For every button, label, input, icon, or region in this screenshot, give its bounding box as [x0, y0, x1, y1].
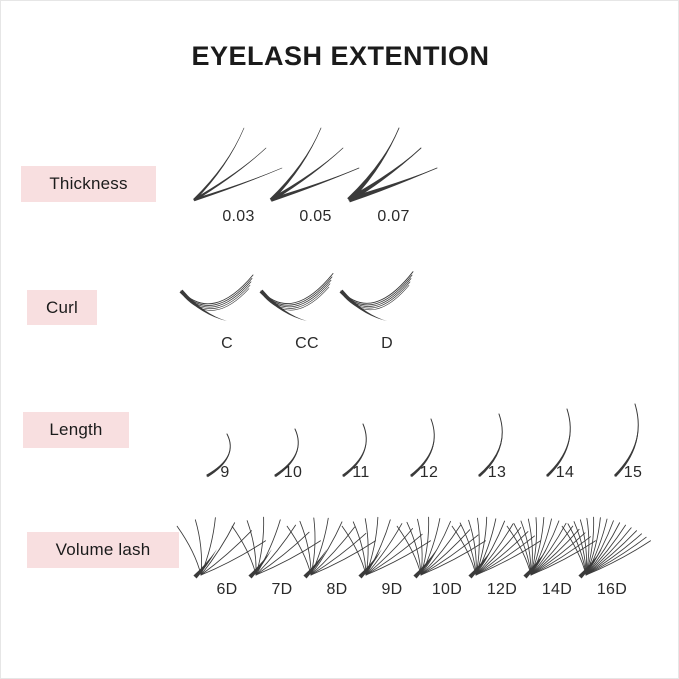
lash-fan-icon: [341, 126, 446, 206]
volume-fan-icon: [576, 501, 648, 579]
lash-specimen: 0.07: [341, 126, 446, 240]
specimen-caption: 12: [401, 464, 457, 482]
specimen-caption: D: [339, 335, 435, 353]
lash-specimen: 14: [537, 396, 593, 512]
lash-specimen: D: [339, 269, 435, 363]
page-title: EYELASH EXTENTION: [1, 41, 679, 72]
lash-specimen: 13: [469, 396, 525, 512]
lash-specimen: 16D: [576, 501, 648, 609]
lash-specimen: 12: [401, 396, 457, 512]
lash-specimen: 10: [265, 396, 321, 512]
lash-curl-icon: [339, 269, 435, 329]
specimen-caption: 14: [537, 464, 593, 482]
section-label-curl: Curl: [27, 290, 97, 325]
specimen-caption: 16D: [576, 581, 648, 599]
section-label-length: Length: [23, 412, 129, 448]
lash-specimen: 11: [333, 396, 389, 512]
lash-specimen: 16: [673, 396, 679, 512]
specimen-caption: 9: [197, 464, 253, 482]
specimen-caption: 10: [265, 464, 321, 482]
specimen-caption: 15: [605, 464, 661, 482]
eyelash-extension-chart: EYELASH EXTENTION Thickness 0.030.050.07…: [0, 0, 679, 679]
section-label-volume-lash: Volume lash: [27, 532, 179, 568]
specimen-caption: 16: [673, 464, 679, 482]
lash-specimen: 9: [197, 396, 253, 512]
specimen-caption: 0.07: [341, 208, 446, 226]
specimen-caption: 11: [333, 464, 389, 482]
specimen-caption: 13: [469, 464, 525, 482]
section-label-thickness: Thickness: [21, 166, 156, 202]
lash-specimen: 15: [605, 396, 661, 512]
